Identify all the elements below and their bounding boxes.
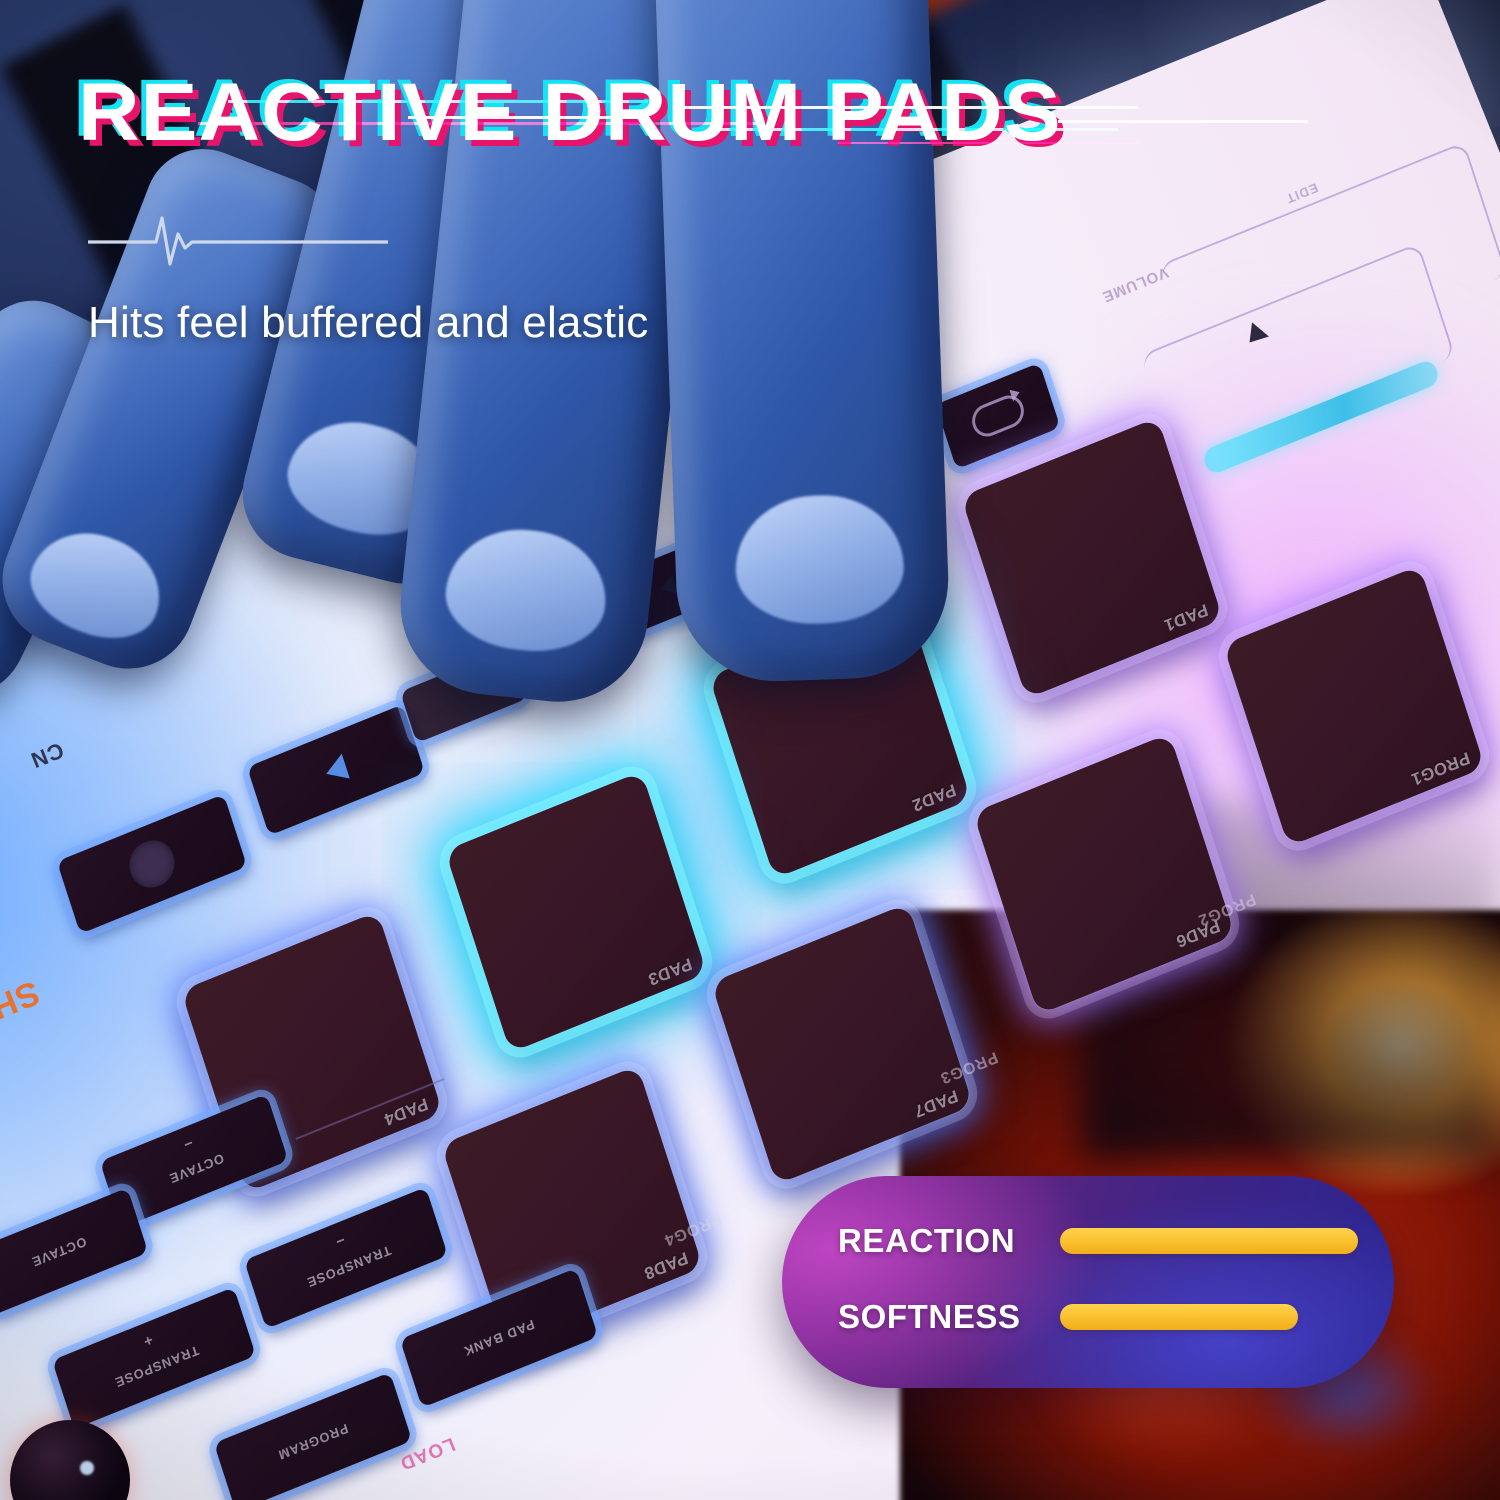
spec-row-reaction: REACTION (838, 1222, 1358, 1260)
round-indicator-icon (124, 833, 181, 894)
spec-label-reaction: REACTION (838, 1222, 1034, 1260)
spec-track-softness (1060, 1304, 1358, 1330)
spec-bar-softness (1060, 1304, 1298, 1330)
spec-panel: REACTION SOFTNESS (782, 1176, 1394, 1388)
subtitle: Hits feel buffered and elastic (88, 298, 648, 348)
glitch-slice-1 (228, 100, 648, 103)
spec-row-softness: SOFTNESS (838, 1298, 1358, 1336)
fingernail (441, 522, 613, 658)
spec-label-softness: SOFTNESS (838, 1298, 1034, 1336)
fingernail (17, 516, 175, 655)
spec-bar-reaction (1060, 1228, 1358, 1254)
loop-icon (968, 391, 1028, 442)
glitch-slice-3 (408, 116, 648, 119)
promo-image-root: VOLUME EDIT PAD1 PAD2 PAD3 PAD4 PROG1 PA… (0, 0, 1500, 1500)
fingernail (733, 493, 905, 627)
glitch-slice-4 (678, 106, 1138, 109)
pulse-waveform-icon (88, 212, 388, 270)
spec-track-reaction (1060, 1228, 1358, 1254)
glitch-slice-2 (198, 122, 758, 125)
headline-block: REACTIVE DRUM PADS REACTIVE DRUM PADS RE… (78, 72, 1418, 182)
left-arrow-icon (322, 754, 350, 787)
glitch-slice-5 (718, 128, 1118, 131)
double-arrow-icon (657, 574, 678, 599)
glitch-slice-6 (1058, 120, 1308, 123)
knob-indicator-dot (80, 1461, 94, 1475)
glitch-slice-7 (838, 142, 1138, 144)
